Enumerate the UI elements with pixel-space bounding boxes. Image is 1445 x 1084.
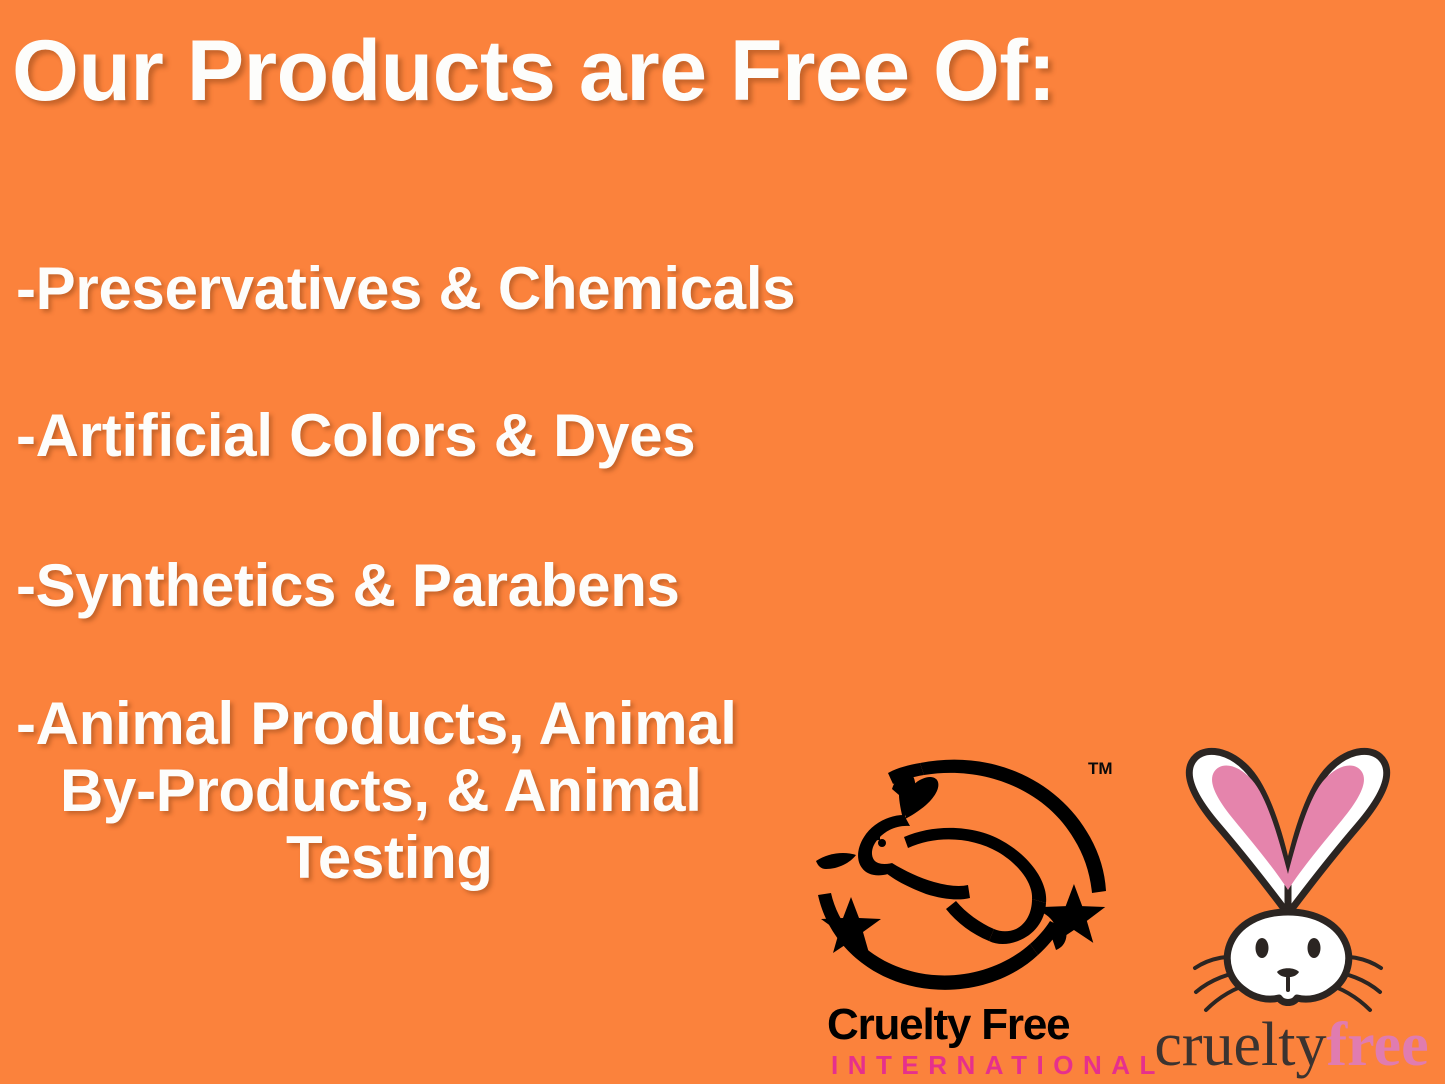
slide-canvas: Our Products are Free Of: -Preservatives…: [0, 0, 1445, 1084]
list-item-line: -Animal Products, Animal: [16, 690, 806, 757]
list-item-line: By-Products, & Animal: [16, 757, 806, 824]
peta-cruelty-free-logo: crueltyfree: [1138, 722, 1445, 1084]
leaping-bunny-icon: [800, 745, 1120, 1000]
list-item: -Animal Products, Animal By-Products, & …: [16, 690, 806, 892]
cruelty-free-international-logo: TM Cruelty Free INTERNATIONAL: [800, 745, 1120, 1084]
peta-wordmark: crueltyfree: [1138, 1014, 1445, 1076]
peta-wordmark-free: free: [1327, 1011, 1429, 1079]
page-title: Our Products are Free Of:: [12, 26, 1056, 116]
list-item-line: Testing: [16, 824, 806, 891]
bunny-heart-ears-icon: [1138, 722, 1445, 1022]
trademark-symbol: TM: [1088, 759, 1113, 779]
cruelty-free-wordmark: Cruelty Free: [827, 1000, 1069, 1050]
list-item: -Preservatives & Chemicals: [16, 255, 795, 322]
international-wordmark: INTERNATIONAL: [831, 1050, 1165, 1081]
peta-wordmark-cruelty: cruelty: [1154, 1011, 1326, 1079]
list-item: -Artificial Colors & Dyes: [16, 402, 695, 469]
list-item: -Synthetics & Parabens: [16, 552, 680, 619]
